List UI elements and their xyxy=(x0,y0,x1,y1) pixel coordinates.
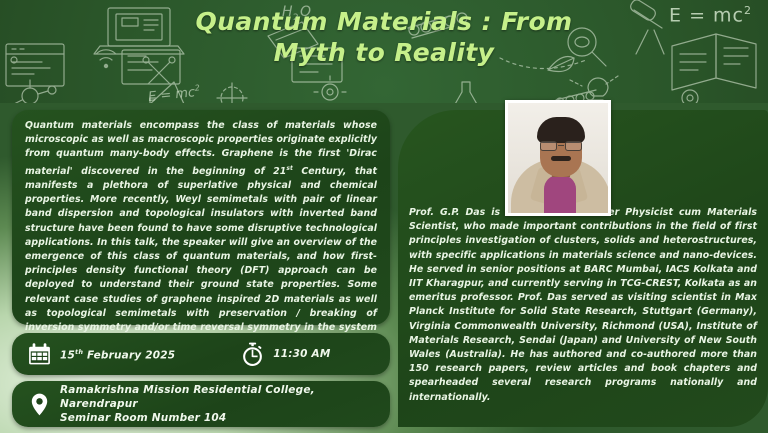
poster-title: Quantum Materials : From Myth to Reality xyxy=(0,6,768,68)
calendar-icon xyxy=(18,333,60,375)
chalk-emc2-formula-secondary: E = mc2 xyxy=(147,83,201,105)
abstract-text: Quantum materials encompass the class of… xyxy=(25,119,377,349)
title-line-1: Quantum Materials : From xyxy=(0,6,768,37)
speaker-bio: Prof. G.P. Das is a Condensed Matter Phy… xyxy=(409,206,757,405)
seminar-poster: H 2 O xyxy=(0,0,768,433)
event-time-group: 11:30 AM xyxy=(231,333,330,375)
venue-line-2: Seminar Room Number 104 xyxy=(60,412,226,424)
location-pin-icon xyxy=(18,383,60,425)
venue-line-1: Ramakrishna Mission Residential College,… xyxy=(60,384,315,410)
title-line-2: Myth to Reality xyxy=(0,37,768,68)
speaker-photo xyxy=(505,100,611,216)
abstract-card: Quantum materials encompass the class of… xyxy=(12,110,390,325)
avatar xyxy=(508,103,608,213)
stopwatch-icon xyxy=(231,333,273,375)
venue-address: Ramakrishna Mission Residential College,… xyxy=(60,383,384,425)
event-date: 15th February 2025 xyxy=(60,345,175,363)
datetime-card: 15th February 2025 11:30 AM xyxy=(12,333,390,375)
speaker-panel: Prof. G.P. Das is a Condensed Matter Phy… xyxy=(398,110,768,427)
venue-card: Ramakrishna Mission Residential College,… xyxy=(12,381,390,427)
event-time: 11:30 AM xyxy=(273,347,330,361)
